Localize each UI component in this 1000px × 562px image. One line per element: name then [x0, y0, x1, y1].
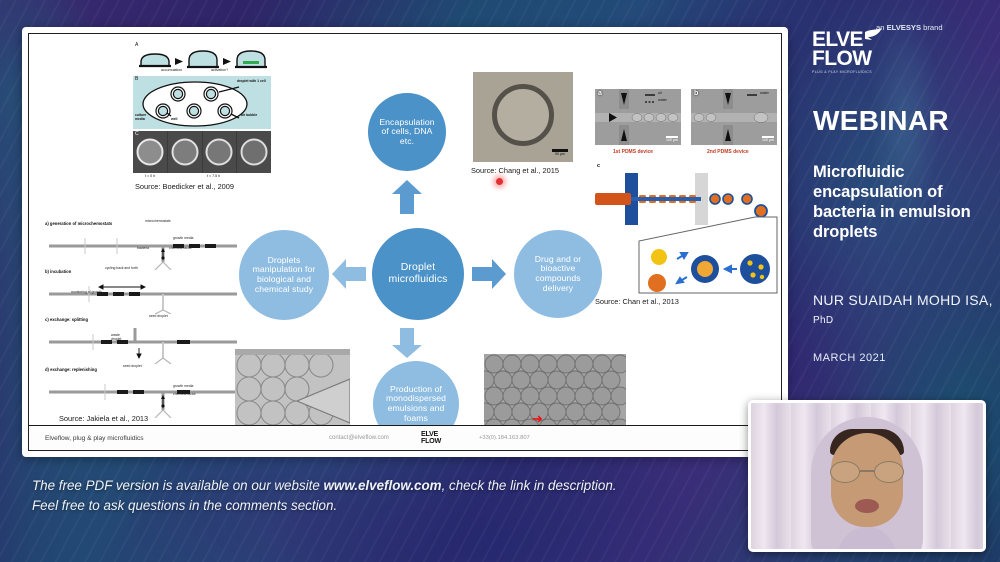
label-well: well — [171, 117, 177, 121]
source-jakiela: Source: Jakiela et al., 2013 — [59, 414, 148, 423]
jakiela-label-chemical-factor: chemical factor — [169, 246, 192, 250]
micrograph-chang: 50 µm — [473, 72, 573, 162]
promo-caption-line2: Feel free to ask questions in the commen… — [32, 496, 732, 516]
jakiela-row-b-title: b) incubation — [45, 269, 71, 274]
scalebar-chan-a: 100 µm — [666, 136, 678, 142]
label-air-bubble: air bubble — [241, 114, 267, 118]
diagram-center-label: Droplet microfluidics — [383, 262, 453, 286]
promo-website-url[interactable]: www.elveflow.com — [324, 478, 442, 493]
jakiela-row-a-title: a) generation of microchemostats — [45, 221, 112, 226]
legend-water: water — [658, 98, 667, 102]
source-chan: Source: Chan et al., 2013 — [595, 297, 679, 306]
glasses-lens-left — [830, 461, 860, 483]
figure-chan: a oil water 100 µm — [595, 67, 782, 307]
micrograph-chan-b: b water 100 µm — [691, 89, 777, 145]
logo-line-flow: FLOW — [812, 49, 872, 68]
panel-label-c: C — [135, 131, 139, 137]
speaker-webcam-video[interactable] — [748, 400, 986, 552]
jakiela-label-bacteria: bacteria — [137, 246, 149, 250]
promo-caption-line1: The free PDF version is available on our… — [32, 476, 732, 496]
brand-suffix: brand — [921, 23, 943, 32]
arrow-down — [392, 328, 422, 358]
jakiela-row-d-title: d) exchange: replenishing — [45, 367, 97, 372]
laser-pointer-dot — [496, 178, 503, 185]
slide-canvas: A accumulation activation? — [28, 33, 782, 451]
glasses-lens-right — [874, 461, 904, 483]
time-label-end: t = 7.5 h — [207, 174, 220, 178]
legend-oil: oil — [658, 91, 662, 95]
footer-tagline: Elveflow, plug & play microfluidics — [45, 435, 144, 442]
webinar-date: MARCH 2021 — [813, 352, 886, 364]
jakiela-label-monitoring: monitoring of growth — [71, 290, 102, 294]
jakiela-label-waste-droplet: waste droplet — [111, 334, 131, 341]
jakiela-label-cycling: cycling back and forth — [105, 266, 138, 270]
glasses-bridge — [860, 470, 874, 472]
arrow-left — [332, 259, 366, 289]
scalebar-chan-b: 100 µm — [762, 136, 774, 142]
label-activation: activation? — [211, 68, 228, 72]
figure-jakiela: a) generation of microchemostats microch… — [45, 212, 241, 402]
speaker-fullname: NUR SUAIDAH MOHD ISA, — [813, 292, 993, 308]
time-label-start: t = 0 h — [145, 174, 155, 178]
slide-footer: Elveflow, plug & play microfluidics cont… — [29, 425, 781, 450]
jakiela-label-seed-droplet-d: seed droplet — [123, 364, 142, 368]
brand-prefix: an — [876, 23, 887, 32]
footer-logo-line2: FLOW — [421, 438, 441, 445]
jakiela-label-microchemostats: microchemostats — [145, 219, 171, 223]
speaker-name: NUR SUAIDAH MOHD ISA, PhD — [813, 292, 998, 327]
pointer-arrow-red: ➜ — [532, 412, 543, 425]
arrow-right — [472, 259, 506, 289]
promo-caption: The free PDF version is available on our… — [32, 476, 732, 517]
diagram-node-bottom-label: Production of monodispersed emulsions an… — [385, 385, 447, 424]
promo-text-a: The free PDF version is available on our… — [32, 478, 324, 493]
micrograph-chan-a: a oil water 100 µm — [595, 89, 681, 145]
logo-tagline: PLUG & PLAY MICROFLUIDICS — [812, 70, 872, 74]
jakiela-label-growth-media: growth media — [173, 236, 193, 240]
brand-name: ELVESYS — [887, 23, 921, 32]
figure-boedicker: A accumulation activation? — [133, 42, 271, 190]
diagram-node-right-label: Drug and or bioactive compounds delivery — [527, 255, 589, 294]
diagram-node-top[interactable]: Encapsulation of cells, DNA etc. — [368, 93, 446, 171]
jakiela-row-b: b) incubation cycling back and forth mon… — [45, 260, 241, 314]
webinar-title: Microfluidic encapsulation of bacteria i… — [813, 162, 998, 243]
elvesys-brand-line: an ELVESYS brand — [876, 23, 943, 32]
footer-phone: +33(0).184.163.807 — [479, 435, 530, 441]
panel-label-chan-c: c — [597, 163, 600, 169]
jakiela-row-c: c) exchange: splitting seed droplet wast… — [45, 308, 241, 364]
label-droplet-with-cell: droplet with 1 cell — [237, 80, 267, 84]
label-pdms-device-1: 1st PDMS device — [613, 149, 653, 155]
jakiela-label-chemical-factor-d: chemical factor — [173, 392, 196, 396]
diagram-node-left-label: Droplets manipulation for biological and… — [249, 256, 319, 295]
webinar-kicker: WEBINAR — [813, 105, 949, 137]
speaker-credential: PhD — [813, 315, 833, 326]
jakiela-label-seed-droplet-c: seed droplet — [149, 314, 168, 318]
label-culture-media: culture media — [135, 114, 157, 121]
source-chang: Source: Chang et al., 2015 — [471, 166, 559, 175]
jakiela-row-c-title: c) exchange: splitting — [45, 317, 88, 322]
legend-water-b: water — [760, 91, 769, 95]
speaker-glasses — [830, 461, 904, 483]
label-pdms-device-2: 2nd PDMS device — [707, 149, 749, 155]
diagram-node-top-label: Encapsulation of cells, DNA etc. — [376, 118, 438, 147]
footer-email[interactable]: contact@elveflow.com — [329, 435, 389, 441]
scalebar-chang: 50 µm — [552, 149, 568, 156]
jakiela-row-d: d) exchange: replenishing seed droplet g… — [45, 358, 241, 418]
diagram-center-node[interactable]: Droplet microfluidics — [372, 228, 464, 320]
speaker-mouth — [855, 499, 879, 513]
promo-text-b: , check the link in description. — [442, 478, 617, 493]
elveflow-logo: ELVE FLOW PLUG & PLAY MICROFLUIDICS — [812, 30, 872, 74]
footer-elveflow-logo: ELVE FLOW — [421, 431, 441, 445]
diagram-node-right[interactable]: Drug and or bioactive compounds delivery — [514, 230, 602, 318]
presentation-slide: A accumulation activation? — [22, 27, 788, 457]
jakiela-label-growth-media-d: growth media — [173, 384, 193, 388]
label-accumulation: accumulation — [161, 68, 182, 72]
source-boedicker: Source: Boedicker et al., 2009 — [135, 182, 234, 191]
arrow-up — [392, 180, 422, 214]
diagram-node-left[interactable]: Droplets manipulation for biological and… — [239, 230, 329, 320]
